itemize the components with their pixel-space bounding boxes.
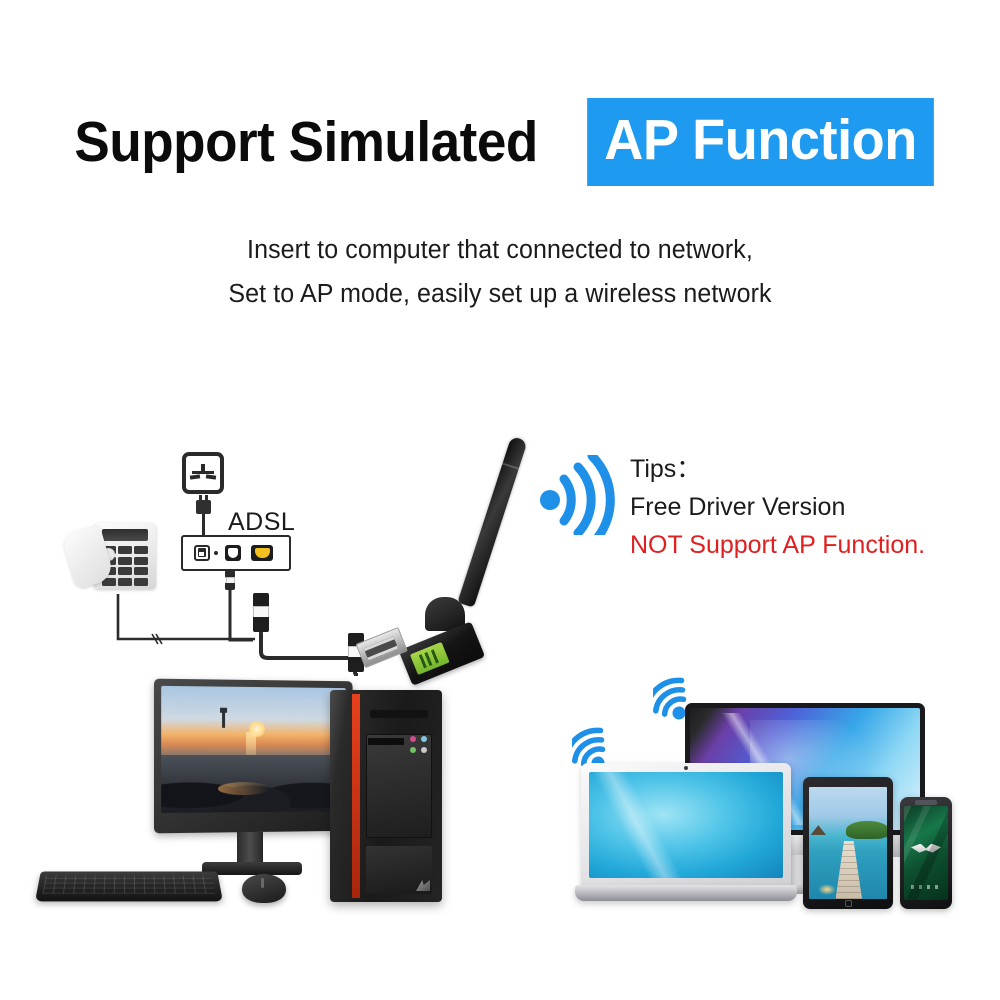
tips-warning: NOT Support AP Function. <box>630 526 960 564</box>
adapter-label <box>410 642 450 675</box>
modem-phone-port <box>194 545 210 561</box>
usb-wifi-adapter <box>385 430 515 680</box>
smartphone-dock-dots <box>911 885 941 889</box>
laptop-screen <box>589 772 783 878</box>
rock-highlight <box>218 782 270 795</box>
tablet-home-button <box>845 900 852 907</box>
tower-red-stripe <box>352 694 360 898</box>
laptop-webcam <box>684 766 688 770</box>
headline: Support Simulated AP Function <box>0 98 1000 186</box>
beach-hut <box>811 825 827 835</box>
laptop-base <box>575 885 797 901</box>
smartphone-wallpaper-green <box>904 806 948 900</box>
rj11-connector <box>225 570 235 590</box>
tower-front-ports <box>410 736 434 758</box>
power-plug-icon <box>196 500 211 514</box>
monitor-wallpaper-sunset-coast <box>161 686 346 813</box>
tips-line-1: Free Driver Version <box>630 488 960 526</box>
subtitle-line-2: Set to AP mode, easily set up a wireless… <box>10 272 990 316</box>
monitor <box>154 679 353 834</box>
adsl-label: ADSL <box>228 508 295 537</box>
modem-lan-port <box>225 545 241 561</box>
smartphone-earpiece <box>915 800 937 805</box>
modem-indicator-dot <box>214 551 218 555</box>
smartphone <box>900 797 952 909</box>
headline-plain-text: Support Simulated <box>75 114 538 171</box>
tablet-body <box>803 777 893 909</box>
tips-block: Tips： Free Driver Version NOT Support AP… <box>630 450 960 564</box>
subtitle: Insert to computer that connected to net… <box>0 228 1000 316</box>
pier-light-glow <box>818 884 835 894</box>
wifi-signal-icon-adapter <box>538 455 624 535</box>
wireless-device-cluster <box>575 685 995 925</box>
mouse <box>242 874 286 903</box>
laptop <box>575 763 797 913</box>
laptop-lid <box>581 763 791 887</box>
tablet-wallpaper-tropical-pier <box>809 787 887 899</box>
keyboard <box>35 872 223 902</box>
rj45-connector-modem <box>253 593 269 633</box>
island <box>846 821 887 839</box>
tower-top-vent <box>370 710 428 718</box>
headline-highlight-text: AP Function <box>587 98 934 186</box>
landline-telephone <box>66 521 162 595</box>
antenna <box>457 436 527 608</box>
telephone-display <box>102 529 148 541</box>
product-feature-image: Support Simulated AP Function Insert to … <box>0 0 1000 1000</box>
pc-tower <box>330 690 442 902</box>
monitor-stand <box>237 832 263 866</box>
outlet-pins <box>190 464 216 482</box>
tips-title: Tips： <box>630 450 960 488</box>
subtitle-line-1: Insert to computer that connected to net… <box>10 228 990 272</box>
winged-emblem-icon <box>911 844 941 853</box>
desktop-computer <box>30 672 480 917</box>
lighthouse-silhouette <box>222 712 225 728</box>
modem-dsl-port <box>251 545 273 561</box>
tablet <box>803 777 893 909</box>
power-outlet-icon <box>182 452 224 494</box>
wooden-pier <box>836 841 863 899</box>
smartphone-body <box>900 797 952 909</box>
optical-drive <box>368 738 404 745</box>
adsl-modem <box>181 535 291 571</box>
